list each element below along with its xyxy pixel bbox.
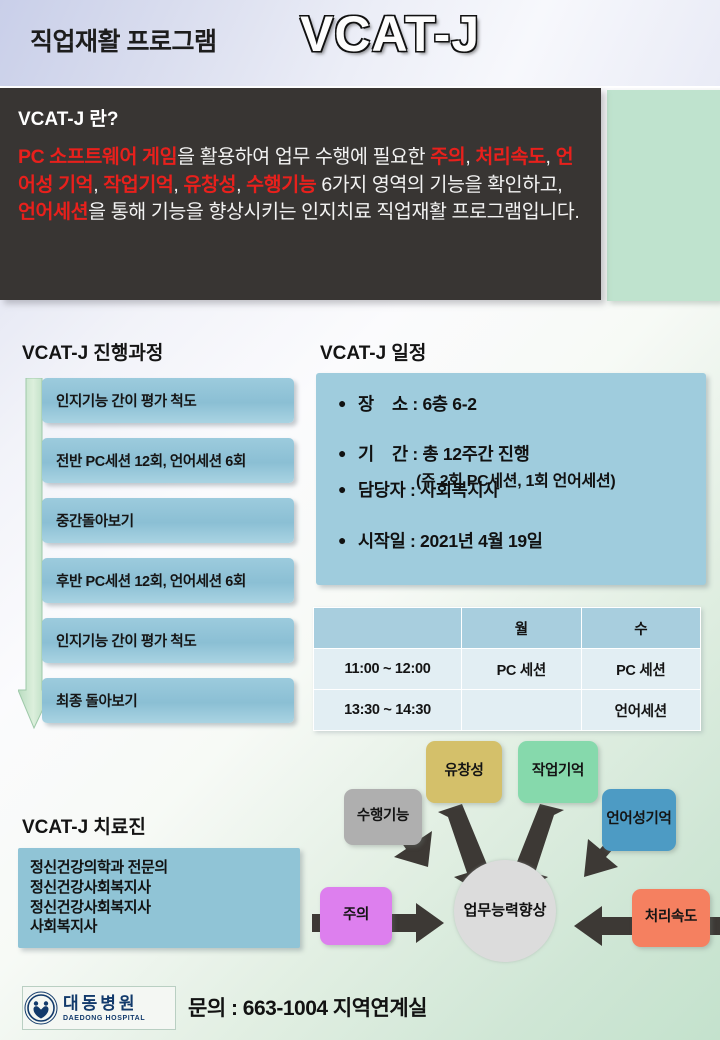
team-member-2: 정신건강사회복지사 (30, 878, 300, 898)
intro-title: VCAT-J 란? (18, 104, 119, 131)
bullet-icon: ● (338, 395, 358, 411)
schedule-item-2: 기 간 : 총 12주간 진행 (358, 444, 530, 464)
team-member-3: 정신건강사회복지사 (30, 898, 300, 918)
intro-highlight-term: 주의 (430, 146, 465, 168)
table-body: 11:00 ~ 12:00PC 세션PC 세션13:30 ~ 14:30언어세션 (314, 649, 701, 731)
intro-highlight-term: 수행기능 (246, 174, 316, 196)
process-step-5: 인지기능 간이 평가 척도 (42, 618, 294, 663)
page-title: VCAT-J (300, 5, 480, 63)
poster-canvas: 직업재활 프로그램 VCAT-J VCAT-J 란? PC 소프트웨어 게임을 … (0, 0, 720, 1040)
timetable-header-1: 월 (462, 608, 582, 649)
hospital-emblem-icon (23, 990, 59, 1026)
diagram-node-6: 처리속도 (632, 889, 710, 947)
hospital-logo: 대동병원 DAEDONG HOSPITAL (22, 986, 176, 1030)
timetable-cell-0-1: PC 세션 (462, 649, 582, 690)
process-step-4: 후반 PC세션 12회, 언어세션 6회 (42, 558, 294, 603)
process-step-1: 인지기능 간이 평가 척도 (42, 378, 294, 423)
bullet-icon: ● (338, 445, 358, 461)
logo-name-en: DAEDONG HOSPITAL (63, 1015, 145, 1022)
contact-info: 문의 : 663-1004 지역연계실 (188, 992, 427, 1022)
header-subtitle: 직업재활 프로그램 (30, 22, 216, 58)
intro-highlight-term: 작업기억 (103, 174, 173, 196)
diagram-node-5: 주의 (320, 887, 392, 945)
intro-text: 6가지 영역의 기능을 확인하고, (316, 174, 562, 196)
schedule-note: (주 2회 PC세션, 1회 언어세션) (416, 467, 615, 491)
intro-text: , (93, 174, 103, 196)
process-step-3: 중간돌아보기 (42, 498, 294, 543)
intro-text: , (173, 174, 183, 196)
table-row: 11:00 ~ 12:00PC 세션PC 세션 (314, 649, 701, 690)
intro-text: , (465, 146, 475, 168)
diagram-node-1: 수행기능 (344, 789, 422, 845)
diagram-node-2: 유창성 (426, 741, 502, 803)
page-header: 직업재활 프로그램 VCAT-J (0, 0, 720, 88)
process-step-6: 최종 돌아보기 (42, 678, 294, 723)
diagram-node-3: 작업기억 (518, 741, 598, 803)
bullet-icon: ● (338, 532, 358, 548)
schedule-panel: ●장 소 : 6층 6-2●기 간 : 총 12주간 진행●담당자 : 사회복지… (316, 373, 706, 585)
intro-panel: VCAT-J 란? PC 소프트웨어 게임을 활용하여 업무 수행에 필요한 주… (0, 88, 601, 300)
process-step-2: 전반 PC세션 12회, 언어세션 6회 (42, 438, 294, 483)
section-title-schedule: VCAT-J 일정 (320, 338, 426, 365)
team-panel: 정신건강의학과 전문의정신건강사회복지사정신건강사회복지사사회복지사 (18, 848, 300, 948)
schedule-row: ●장 소 : 6층 6-2 (338, 391, 477, 416)
intro-highlight-term: 언어세션 (18, 201, 88, 223)
timetable-cell-1-1 (462, 690, 582, 731)
timetable-cell-0-0: 11:00 ~ 12:00 (314, 649, 462, 690)
section-title-process: VCAT-J 진행과정 (22, 338, 163, 365)
bullet-icon: ● (338, 481, 358, 497)
weekly-timetable: 월수 11:00 ~ 12:00PC 세션PC 세션13:30 ~ 14:30언… (313, 607, 701, 731)
schedule-row: ●기 간 : 총 12주간 진행 (338, 441, 530, 466)
table-row: 13:30 ~ 14:30언어세션 (314, 690, 701, 731)
timetable-header-0 (314, 608, 462, 649)
intro-text: 을 통해 기능을 향상시키는 인지치료 직업재활 프로그램입니다. (88, 201, 579, 223)
intro-highlight-term: PC 소프트웨어 게임 (18, 146, 177, 168)
team-member-4: 사회복지사 (30, 917, 300, 937)
timetable-cell-1-2: 언어세션 (581, 690, 701, 731)
intro-text: , (546, 146, 556, 168)
page-footer: 대동병원 DAEDONG HOSPITAL 문의 : 663-1004 지역연계… (0, 978, 720, 1040)
timetable-header-2: 수 (581, 608, 701, 649)
table-header-row: 월수 (314, 608, 701, 649)
schedule-item-1: 장 소 : 6층 6-2 (358, 394, 477, 414)
intro-highlight-term: 유창성 (183, 174, 236, 196)
section-title-team: VCAT-J 치료진 (22, 812, 146, 839)
schedule-row: ●시작일 : 2021년 4월 19일 (338, 528, 543, 553)
intro-highlight-term: 처리속도 (475, 146, 545, 168)
intro-text: , (236, 174, 246, 196)
diagram-node-4: 언어성기억 (602, 789, 676, 851)
intro-text: 을 활용하여 업무 수행에 필요한 (177, 146, 430, 168)
intro-body: PC 소프트웨어 게임을 활용하여 업무 수행에 필요한 주의, 처리속도, 언… (18, 144, 584, 227)
diagram-center-node: 업무능력향상 (454, 860, 556, 962)
timetable-cell-0-2: PC 세션 (581, 649, 701, 690)
logo-name-ko: 대동병원 (63, 995, 145, 1012)
skills-diagram: 업무능력향상 수행기능유창성작업기억언어성기억주의처리속도 (312, 727, 720, 977)
timetable-cell-1-0: 13:30 ~ 14:30 (314, 690, 462, 731)
schedule-item-4: 시작일 : 2021년 4월 19일 (358, 531, 543, 551)
decorative-green-panel (607, 90, 720, 301)
team-member-1: 정신건강의학과 전문의 (30, 858, 300, 878)
